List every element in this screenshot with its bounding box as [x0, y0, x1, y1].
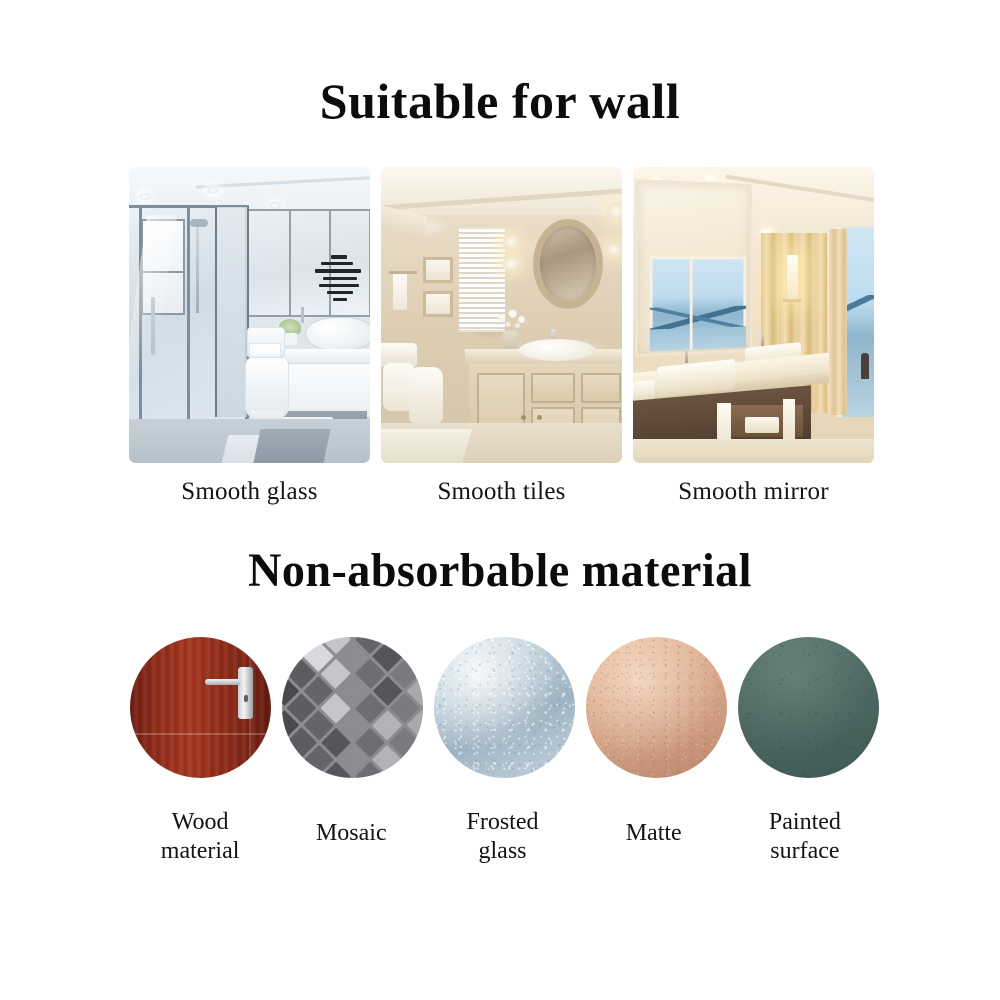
- material-label-line1: Wood: [130, 808, 270, 837]
- shower-frame: [187, 205, 190, 427]
- matte-texture: [586, 637, 727, 778]
- wall-decal: [313, 253, 365, 305]
- glass-partition: [215, 207, 249, 417]
- cabinet-knob: [521, 415, 526, 420]
- material-label-line1: Painted: [735, 808, 875, 837]
- ceiling-light-icon: [705, 175, 716, 181]
- material-label-row: Wood material Mosaic Frosted glass Matte…: [130, 808, 875, 867]
- material-label-line2: glass: [432, 837, 572, 866]
- material-label-line1: Mosaic: [281, 819, 421, 848]
- sconce-arm: [783, 299, 801, 302]
- hanging-towel: [393, 274, 407, 310]
- wood-swatch: [130, 637, 271, 778]
- toilet: [409, 367, 443, 423]
- photo-smooth-mirror-image: [633, 167, 874, 463]
- surface-photo-row: [129, 167, 875, 463]
- door-handle-lever: [205, 679, 241, 685]
- wall-sconce-icon: [787, 255, 798, 299]
- vessel-sink: [305, 317, 370, 351]
- silhouette: [861, 353, 869, 379]
- material-item-wood: [130, 637, 271, 778]
- material-label-frosted-glass: Frosted glass: [432, 808, 572, 867]
- frosted-texture: [434, 637, 575, 778]
- mosaic-swatch: [282, 637, 423, 778]
- surface-photo-smooth-mirror: [633, 167, 874, 463]
- frosted-swatch: [434, 637, 575, 778]
- wall-sconce-icon: [607, 243, 621, 256]
- photo-smooth-tiles-image: [381, 167, 622, 463]
- mirror-window-mullion: [690, 256, 693, 349]
- oval-mirror: [533, 219, 603, 309]
- material-item-frosted-glass: [434, 637, 575, 778]
- section-title-non-absorbable: Non-absorbable material: [20, 547, 980, 595]
- faucet-icon: [685, 349, 688, 363]
- photo-smooth-glass-image: [129, 167, 370, 463]
- caption-smooth-mirror: Smooth mirror: [633, 478, 874, 506]
- drop-in-sink: [519, 339, 595, 361]
- cabinet-drawer: [581, 373, 621, 403]
- flower-bouquet: [495, 307, 529, 333]
- ceiling-light-icon: [139, 193, 151, 200]
- material-label-matte: Matte: [584, 808, 724, 848]
- bath-rug: [381, 429, 472, 463]
- material-label-line1: Frosted: [432, 808, 572, 837]
- toilet-bowl: [245, 357, 289, 419]
- material-label-line1: Matte: [584, 819, 724, 848]
- floor-mat: [253, 429, 330, 463]
- surface-photo-smooth-glass: [129, 167, 370, 463]
- door-handle-plate: [238, 667, 253, 719]
- shower-rail: [196, 227, 199, 313]
- surface-photo-smooth-tiles: [381, 167, 622, 463]
- door-keyhole: [244, 695, 248, 702]
- painted-swatch: [738, 637, 879, 778]
- faucet-icon: [301, 307, 304, 323]
- large-wall-mirror: [635, 179, 752, 357]
- material-item-painted-surface: [738, 637, 879, 778]
- material-label-line2: material: [130, 837, 270, 866]
- material-item-matte: [586, 637, 727, 778]
- material-label-painted-surface: Painted surface: [735, 808, 875, 867]
- wall-sconce-icon: [607, 203, 622, 219]
- door-groove: [130, 733, 271, 735]
- sheer-curtain: [829, 229, 847, 415]
- cabinet-knob: [537, 415, 542, 420]
- framed-picture: [423, 291, 453, 317]
- folded-towels: [745, 417, 779, 433]
- mirror-reflected-sea: [650, 327, 746, 352]
- mosaic-tile-grid: [282, 637, 423, 778]
- shower-head-icon: [190, 219, 208, 227]
- material-label-wood: Wood material: [130, 808, 270, 867]
- wall-sconce-icon: [503, 257, 519, 271]
- plant-pot: [284, 333, 297, 345]
- material-swatch-row: [130, 637, 875, 778]
- cabinet-drawer: [531, 373, 575, 403]
- material-item-mosaic: [282, 637, 423, 778]
- painted-texture: [738, 637, 879, 778]
- ceiling-light-icon: [207, 187, 219, 194]
- wall-sconce-icon: [503, 235, 519, 249]
- bathroom-floor: [633, 439, 874, 463]
- matte-swatch: [586, 637, 727, 778]
- caption-smooth-tiles: Smooth tiles: [381, 478, 622, 506]
- material-label-mosaic: Mosaic: [281, 808, 421, 848]
- ceiling-light-icon: [269, 202, 281, 209]
- caption-smooth-glass: Smooth glass: [129, 478, 370, 506]
- material-label-line2: surface: [735, 837, 875, 866]
- infographic-page: Suitable for wall: [0, 0, 1000, 1000]
- framed-picture: [423, 257, 453, 283]
- page-title: Suitable for wall: [0, 76, 1000, 126]
- mirror-divider: [289, 209, 291, 317]
- surface-caption-row: Smooth glass Smooth tiles Smooth mirror: [129, 478, 875, 506]
